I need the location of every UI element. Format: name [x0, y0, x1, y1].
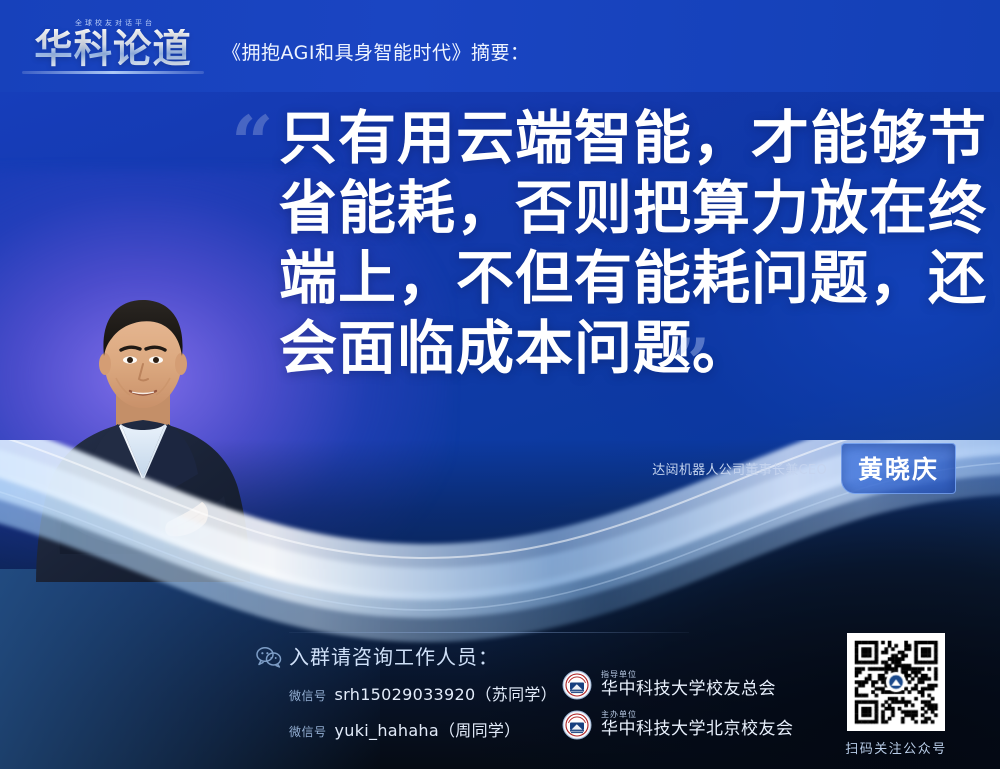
- quote-line-4: 会面临成本问题。: [279, 313, 949, 383]
- university-seal-icon: [562, 710, 592, 740]
- logo-wordmark: 华科论道: [34, 29, 191, 69]
- quote-open-mark: “: [231, 107, 271, 181]
- organization-text: 指导单位 华中科技大学校友总会: [601, 671, 776, 699]
- quote-line-2: 省能耗，否则把算力放在终: [279, 173, 949, 243]
- organization-kind: 主办单位: [601, 711, 794, 719]
- organization-kind: 指导单位: [601, 671, 776, 679]
- footer-heading: 入群请咨询工作人员：: [289, 641, 499, 670]
- attribution: 达闼机器人公司董事长兼CEO 黄晓庆: [652, 443, 956, 494]
- qr-code[interactable]: [847, 633, 945, 731]
- poster-canvas: 全球校友对话平台 华科论道 《拥抱AGI和具身智能时代》摘要：: [0, 0, 1000, 769]
- wechat-id: yuki_hahaha（周同学）: [335, 717, 521, 741]
- header-bar: 全球校友对话平台 华科论道 《拥抱AGI和具身智能时代》摘要：: [0, 0, 1000, 92]
- wechat-label: 微信号: [289, 723, 327, 740]
- organization-item: 指导单位 华中科技大学校友总会: [562, 670, 776, 700]
- quote-line-1: 只有用云端智能，才能够节: [279, 103, 949, 173]
- wechat-id: srh15029033920（苏同学）: [335, 681, 557, 705]
- speaker-role: 达闼机器人公司董事长兼CEO: [652, 459, 827, 478]
- wechat-contact-row[interactable]: 微信号 yuki_hahaha（周同学）: [289, 717, 520, 741]
- brand-logo: 全球校友对话平台 华科论道: [22, 18, 204, 74]
- footer-divider: [289, 632, 689, 633]
- wechat-icon: [256, 646, 282, 668]
- organization-item: 主办单位 华中科技大学北京校友会: [562, 710, 794, 740]
- quote-text: 只有用云端智能，才能够节 省能耗，否则把算力放在终 端上，不但有能耗问题，还 会…: [279, 103, 949, 383]
- organization-text: 主办单位 华中科技大学北京校友会: [601, 711, 794, 739]
- qr-block: 扫码关注公众号: [843, 633, 949, 757]
- speaker-name-badge: 黄晓庆: [841, 443, 956, 494]
- wechat-contact-row[interactable]: 微信号 srh15029033920（苏同学）: [289, 681, 557, 705]
- organization-name: 华中科技大学北京校友会: [601, 721, 794, 739]
- university-seal-icon: [562, 670, 592, 700]
- quote-close-mark: ”: [672, 330, 707, 396]
- page-title: 《拥抱AGI和具身智能时代》摘要：: [222, 38, 530, 65]
- qr-caption: 扫码关注公众号: [843, 738, 949, 757]
- quote-line-3: 端上，不但有能耗问题，还: [279, 243, 949, 313]
- organization-name: 华中科技大学校友总会: [601, 681, 776, 699]
- wechat-label: 微信号: [289, 687, 327, 704]
